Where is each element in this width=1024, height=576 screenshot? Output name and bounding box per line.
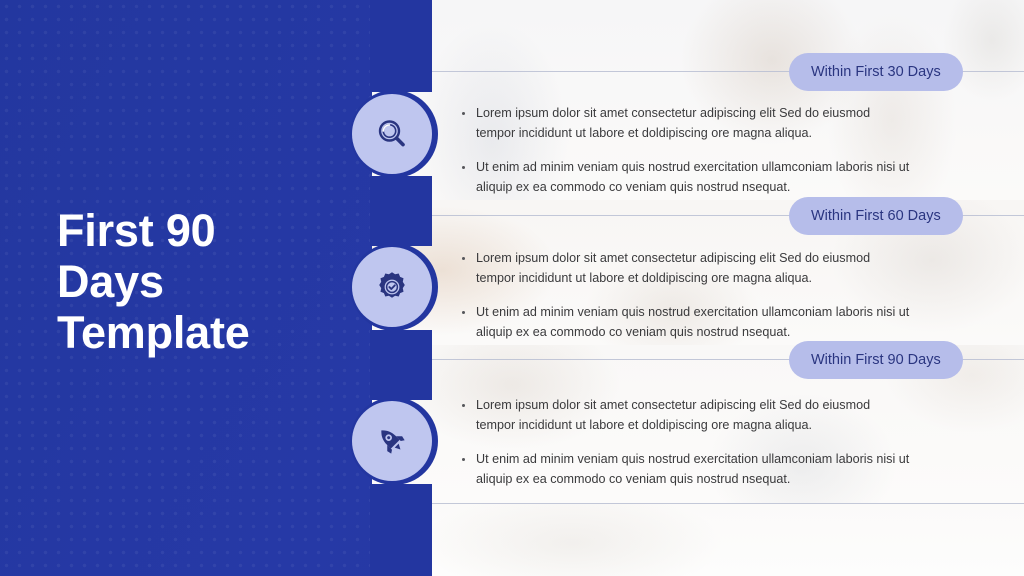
pill-within-first-60-days[interactable]: Within First 60 Days [789,197,963,235]
list-item: Lorem ipsum dolor sit amet consectetur a… [460,249,912,288]
list-item: Ut enim ad minim veniam quis nostrud exe… [460,158,912,197]
bullet-list-2: Lorem ipsum dolor sit amet consectetur a… [460,249,912,342]
section-icon-badge-2[interactable] [352,247,432,327]
panel-edge-fill-2 [370,176,432,246]
title-line-2: Days [57,256,357,307]
title-line-1: First 90 [57,205,357,256]
title-line-3: Template [57,307,357,358]
rocket-icon [372,421,412,461]
list-item: Ut enim ad minim veniam quis nostrud exe… [460,303,912,342]
section-icon-badge-3[interactable] [352,401,432,481]
magnifier-icon [372,114,412,154]
bullet-list-3: Lorem ipsum dolor sit amet consectetur a… [460,396,912,489]
list-item: Lorem ipsum dolor sit amet consectetur a… [460,104,912,143]
panel-edge-fill-1 [370,0,432,92]
background-photo-strip-4 [372,503,1024,576]
panel-edge-fill-3 [370,330,432,400]
gear-check-icon [372,267,412,307]
list-item: Lorem ipsum dolor sit amet consectetur a… [460,396,912,435]
pill-within-first-30-days[interactable]: Within First 30 Days [789,53,963,91]
section-divider-4 [372,503,1024,504]
page-title: First 90 Days Template [57,205,357,358]
section-icon-badge-1[interactable] [352,94,432,174]
bullet-list-1: Lorem ipsum dolor sit amet consectetur a… [460,104,912,197]
list-item: Ut enim ad minim veniam quis nostrud exe… [460,450,912,489]
panel-edge-fill-4 [370,484,432,576]
slide-canvas: First 90 Days Template Within First 30 D… [0,0,1024,576]
pill-within-first-90-days[interactable]: Within First 90 Days [789,341,963,379]
